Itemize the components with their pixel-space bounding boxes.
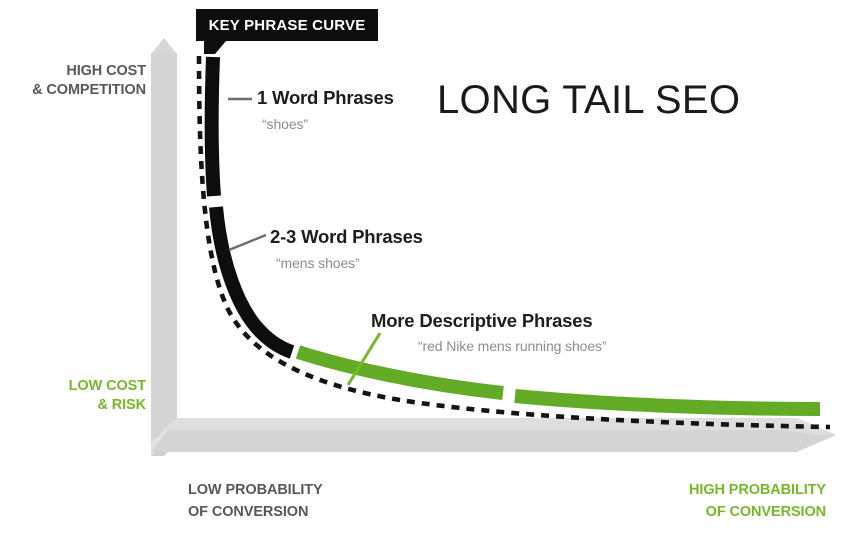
x-axis-right-label: HIGH PROBABILITY OF CONVERSION <box>614 479 826 523</box>
long-tail-curve-segment-1 <box>298 352 503 393</box>
page-title: LONG TAIL SEO <box>437 78 740 123</box>
x-axis-top-face <box>162 418 797 430</box>
y-axis-arrow-icon <box>151 38 177 54</box>
callout-1-word-phrases-title: 1 Word Phrases <box>257 87 394 109</box>
x-axis-left-label: LOW PROBABILITY OF CONVERSION <box>188 479 323 523</box>
callout-descriptive-phrases-example: “red Nike mens running shoes” <box>418 338 607 354</box>
leader-line-2-3-word <box>229 235 266 250</box>
callout-1-word-phrases-example: “shoes” <box>262 116 308 132</box>
y-axis-bottom-label: LOW COST & RISK <box>0 377 146 415</box>
y-axis-shaft <box>151 53 177 443</box>
key-phrase-curve-banner-pointer-icon <box>204 41 226 54</box>
callout-descriptive-phrases-title: More Descriptive Phrases <box>371 310 592 332</box>
key-phrase-curve-banner-label: KEY PHRASE CURVE <box>209 17 366 34</box>
long-tail-curve-segment-2 <box>515 396 820 409</box>
y-axis-top-label: HIGH COST & COMPETITION <box>0 62 146 100</box>
infographic-canvas: KEY PHRASE CURVE HIGH COST & COMPETITION… <box>0 0 865 536</box>
callout-2-3-word-phrases-title: 2-3 Word Phrases <box>270 226 423 248</box>
head-term-curve-segment-1 <box>212 57 214 196</box>
callout-2-3-word-phrases-example: “mens shoes” <box>276 255 360 271</box>
key-phrase-curve-banner: KEY PHRASE CURVE <box>196 9 378 41</box>
